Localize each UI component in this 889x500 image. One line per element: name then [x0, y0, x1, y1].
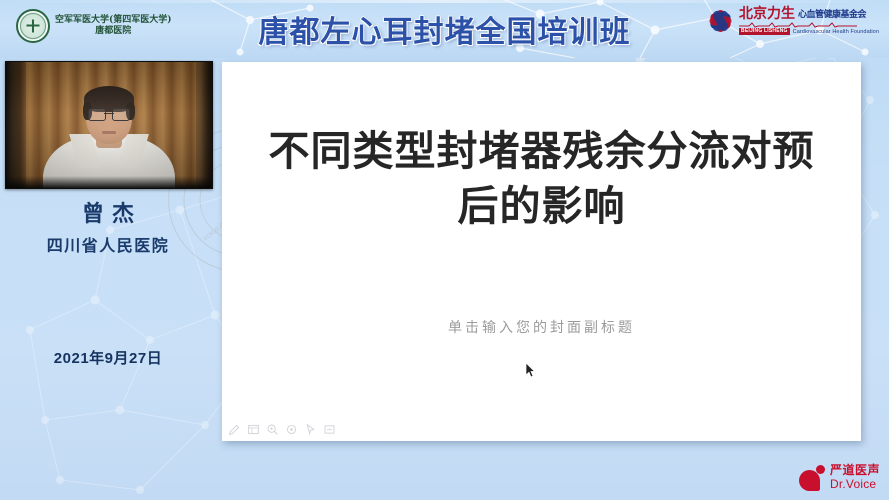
drvoice-en-text: Dr.Voice — [830, 478, 880, 491]
slides-grid-icon[interactable] — [247, 423, 260, 436]
drvoice-watermark: 严道医声 Dr.Voice — [799, 464, 880, 491]
foundation-en-name: Cardiovascular Health Foundation — [793, 29, 879, 35]
more-options-icon[interactable] — [323, 423, 336, 436]
webinar-screen: 空军军医大学(第四军医大学) 唐都医院 唐都左心耳封堵全国培训班 北京力生 心血… — [0, 0, 889, 500]
zoom-in-icon[interactable] — [266, 423, 279, 436]
foundation-pinwheel-icon — [705, 6, 735, 36]
beijing-lisheng-foundation-logo: 北京力生 心血管健康基金会 BEIJING LISHENG Cardiovasc… — [705, 6, 879, 36]
laser-pointer-icon[interactable] — [304, 423, 317, 436]
slide-title: 不同类型封堵器残余分流对预后的影响 — [256, 124, 827, 234]
presentation-slide[interactable]: 不同类型封堵器残余分流对预后的影响 单击输入您的封面副标题 — [222, 62, 861, 441]
drvoice-logo-icon — [799, 465, 825, 491]
talk-date: 2021年9月27日 — [0, 347, 216, 368]
speaker-name: 曾杰 — [0, 200, 216, 228]
header-banner: 空军军医大学(第四军医大学) 唐都医院 唐都左心耳封堵全国培训班 北京力生 心血… — [0, 0, 889, 58]
pointer-options-icon[interactable] — [285, 423, 298, 436]
presenter-toolbar[interactable] — [228, 423, 336, 436]
pen-icon[interactable] — [228, 423, 241, 436]
speaker-organization: 四川省人民医院 — [0, 232, 216, 256]
foundation-name-sub: 心血管健康基金会 — [798, 10, 866, 19]
speaker-info: 曾杰 四川省人民医院 — [0, 200, 216, 256]
slide-subtitle: 单击输入您的封面副标题 — [222, 317, 861, 337]
header-highlight — [0, 0, 889, 3]
speaker-webcam-video[interactable] — [5, 61, 213, 189]
drvoice-cn-text: 严道医声 — [830, 464, 880, 477]
foundation-name-main: 北京力生 — [739, 7, 795, 22]
foundation-en-badge: BEIJING LISHENG — [739, 28, 790, 36]
